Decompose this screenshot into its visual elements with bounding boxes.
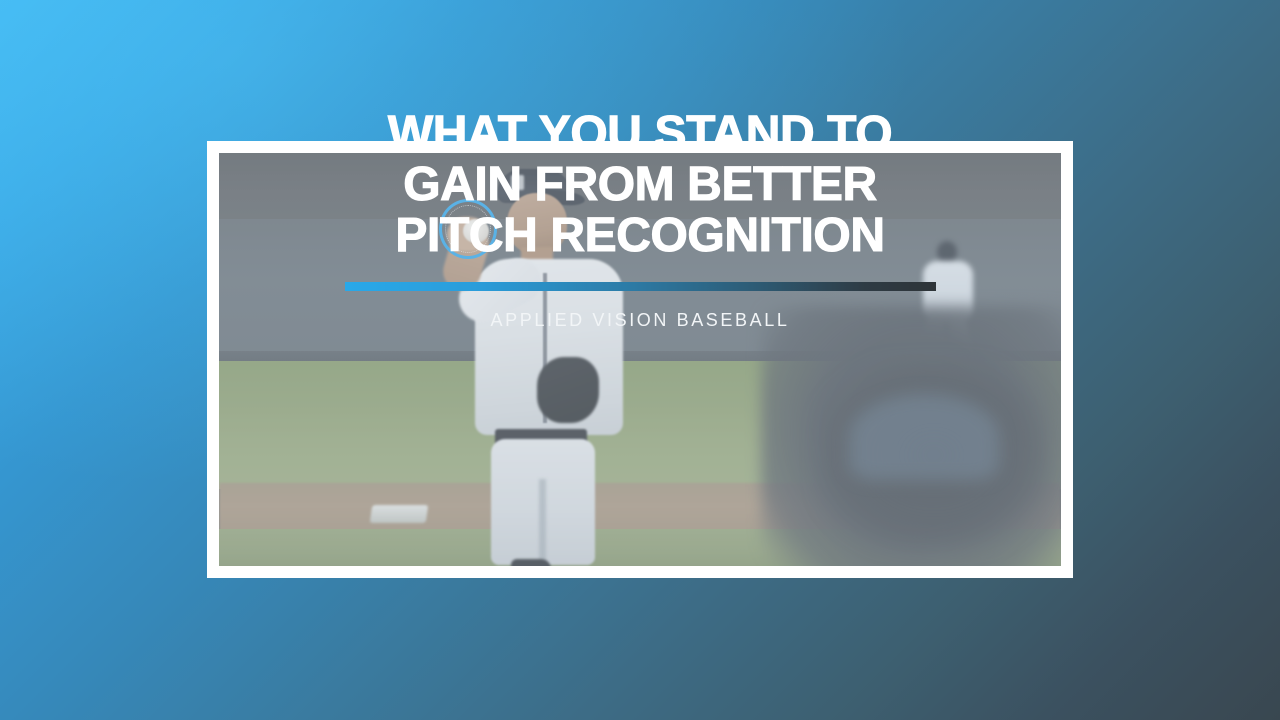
foreground-blur-shoulder bbox=[849, 394, 999, 480]
pitcher-shoe bbox=[511, 559, 551, 566]
pitcher-glove bbox=[537, 357, 599, 423]
pitcher-cap-logo bbox=[511, 175, 524, 190]
base-bag bbox=[370, 505, 429, 523]
pitcher-leg-separation bbox=[539, 479, 546, 566]
slide-canvas: WHAT YOU STAND TO GAIN FROM BETTER PITCH… bbox=[0, 0, 1280, 720]
fielder-head bbox=[937, 241, 957, 263]
pitcher-face bbox=[507, 193, 567, 255]
baseball-highlight-ring-dotted-icon bbox=[445, 205, 491, 253]
photo-frame bbox=[207, 141, 1073, 578]
baseball-photo bbox=[219, 153, 1061, 566]
